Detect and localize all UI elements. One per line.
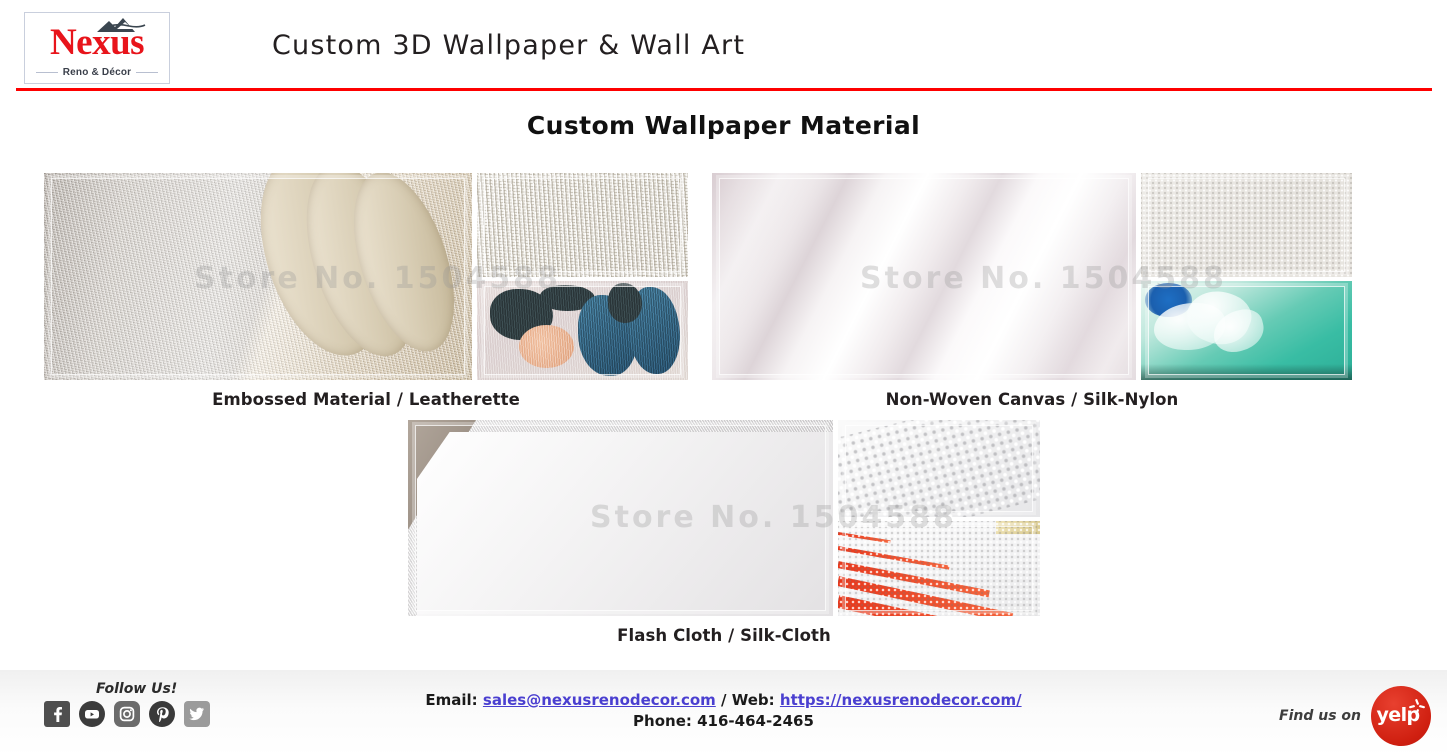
material-card-nonwoven[interactable]: Store No. 1504588 Non-Woven Canvas / Sil… xyxy=(712,173,1352,409)
contact-line-1: Email: sales@nexusrenodecor.com / Web: h… xyxy=(0,690,1447,711)
material-subimage-column xyxy=(1141,173,1352,380)
material-subimage-column xyxy=(838,420,1040,616)
header-divider xyxy=(16,88,1432,91)
material-card-embossed[interactable]: Store No. 1504588 Embossed Material / Le… xyxy=(44,173,688,409)
email-link[interactable]: sales@nexusrenodecor.com xyxy=(483,691,716,709)
stucco-texture-closeup-image xyxy=(477,173,688,277)
contact-line-2: Phone: 416-464-2465 xyxy=(0,711,1447,732)
yelp-burst-icon xyxy=(1409,699,1425,715)
material-subimage-column xyxy=(477,173,688,380)
red-stripe-print-image xyxy=(838,521,1040,616)
email-label: Email: xyxy=(425,691,477,709)
material-card-flashcloth[interactable]: Store No. 1504588 Flash Cloth / Silk-Clo… xyxy=(408,420,1040,645)
page-header: Nexus Reno & Décor Custom 3D Wallpaper &… xyxy=(0,0,1447,84)
logo-subtitle-row: Reno & Décor xyxy=(25,67,169,78)
contact-separator: / xyxy=(721,691,726,709)
white-silk-drape-image xyxy=(712,173,1136,380)
bird-print-sample-image xyxy=(477,281,688,380)
page-title: Custom 3D Wallpaper & Wall Art xyxy=(272,30,745,61)
material-caption: Non-Woven Canvas / Silk-Nylon xyxy=(712,390,1352,409)
phone-label: Phone: xyxy=(633,712,692,730)
logo-rule-right xyxy=(136,72,158,73)
yelp-block[interactable]: Find us on yelp xyxy=(1279,686,1431,746)
material-caption: Flash Cloth / Silk-Cloth xyxy=(408,626,1040,645)
diagonal-emboss-closeup-image xyxy=(838,420,1040,517)
embossed-wallpaper-roll-image xyxy=(44,173,472,380)
web-label: Web: xyxy=(732,691,775,709)
yelp-label: Find us on xyxy=(1279,708,1361,724)
logo-rule-left xyxy=(36,72,58,73)
material-caption: Embossed Material / Leatherette xyxy=(44,390,688,409)
logo-wordmark: Nexus xyxy=(25,23,169,63)
woven-mesh-closeup-image xyxy=(1141,173,1352,277)
phone-number: 416-464-2465 xyxy=(697,712,814,730)
material-image-group: Store No. 1504588 xyxy=(712,173,1352,380)
website-link[interactable]: https://nexusrenodecor.com/ xyxy=(780,691,1022,709)
material-image-group: Store No. 1504588 xyxy=(408,420,1040,616)
yelp-icon[interactable]: yelp xyxy=(1371,686,1431,746)
logo-subtitle: Reno & Décor xyxy=(63,67,132,78)
section-title: Custom Wallpaper Material xyxy=(0,111,1447,140)
logo[interactable]: Nexus Reno & Décor xyxy=(24,12,170,84)
material-image-group: Store No. 1504588 xyxy=(44,173,688,380)
flash-cloth-twill-sheet-image xyxy=(408,420,833,616)
contact-info: Email: sales@nexusrenodecor.com / Web: h… xyxy=(0,690,1447,732)
teal-floral-print-image xyxy=(1141,281,1352,380)
